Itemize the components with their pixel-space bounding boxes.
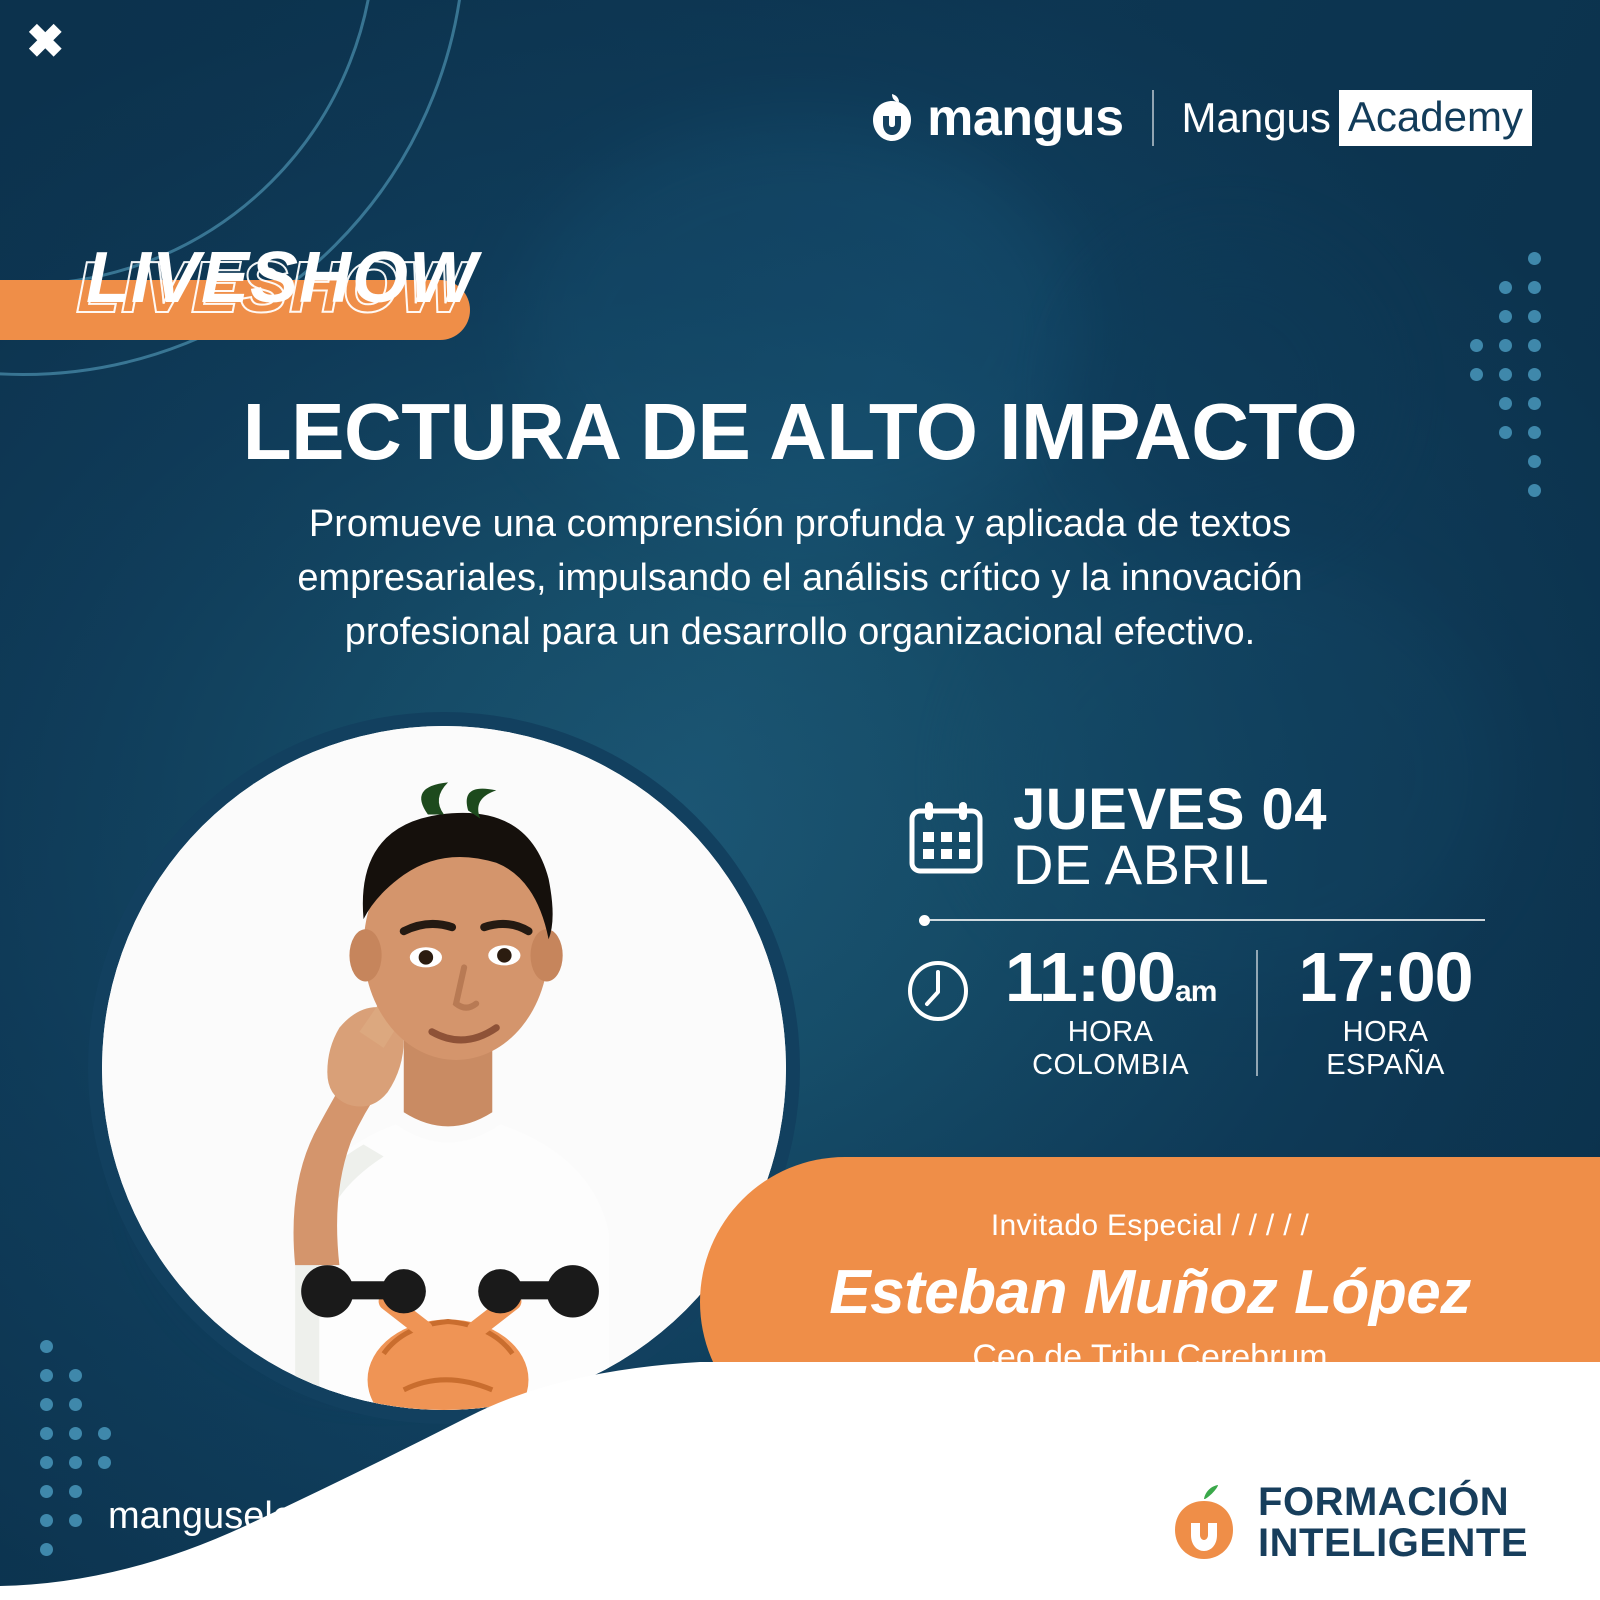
decor-dot — [1528, 484, 1541, 497]
liveshow-badge: LIVESHOW LIVESHOW — [0, 228, 480, 340]
time-suffix: am — [1175, 975, 1216, 1008]
avatar — [102, 726, 786, 1410]
decor-dot — [1528, 252, 1541, 265]
calendar-icon — [905, 796, 987, 878]
decor-dot — [1528, 455, 1541, 468]
decor-dot — [1499, 281, 1512, 294]
decor-dot — [1528, 339, 1541, 352]
decor-dot — [1499, 310, 1512, 323]
event-date-row: JUEVES 04 DE ABRIL — [905, 782, 1485, 893]
decor-dot — [1528, 426, 1541, 439]
time-digits: 11:00 — [1005, 938, 1175, 1016]
speaker-portrait — [102, 726, 786, 1410]
divider-line — [930, 919, 1485, 921]
time-digits: 17:00 — [1299, 938, 1473, 1016]
mango-apple-icon — [869, 92, 915, 144]
decor-dot — [1470, 368, 1483, 381]
time-label: HORA COLOMBIA — [993, 1016, 1228, 1082]
event-time-row: 11:00am HORA COLOMBIA 17:00 HORA ESPAÑA — [905, 942, 1485, 1082]
decor-dot — [1528, 397, 1541, 410]
time-divider — [1256, 950, 1258, 1076]
time-value: 17:00 — [1286, 942, 1485, 1012]
brand-divider — [1152, 90, 1154, 146]
mangus-wordmark: mangus — [927, 88, 1123, 148]
clock-icon — [905, 958, 971, 1024]
event-date-month: DE ABRIL — [1013, 838, 1327, 892]
event-date-day: JUEVES 04 — [1013, 782, 1327, 838]
speaker-photo-ring — [88, 712, 800, 1424]
mangus-academy-logo[interactable]: Mangus Academy — [1182, 90, 1533, 146]
brand-bar: mangus Mangus Academy — [869, 88, 1532, 148]
x-mark-icon: ✖ — [26, 18, 65, 64]
time-label: HORA ESPAÑA — [1286, 1016, 1485, 1082]
decor-dot — [1470, 339, 1483, 352]
decor-dot — [1499, 339, 1512, 352]
event-info-panel: JUEVES 04 DE ABRIL 11:00am HORA COLOMBIA… — [905, 782, 1485, 1082]
academy-highlight: Academy — [1339, 90, 1532, 146]
mangus-logo[interactable]: mangus — [869, 88, 1123, 148]
decor-dot — [1528, 368, 1541, 381]
liveshow-label: LIVESHOW — [86, 242, 478, 314]
divider-dot — [919, 915, 930, 926]
decor-dot — [1499, 397, 1512, 410]
partner-line-1: FORMACIÓN — [1258, 1482, 1528, 1523]
decor-dot — [1528, 281, 1541, 294]
decor-dot — [1499, 426, 1512, 439]
decor-dot — [1528, 310, 1541, 323]
panel-divider — [919, 915, 1485, 926]
event-date-text: JUEVES 04 DE ABRIL — [1013, 782, 1327, 893]
speaker-kicker: Invitado Especial / / / / / — [700, 1209, 1600, 1243]
time-value: 11:00am — [993, 942, 1228, 1012]
formacion-inteligente-logo[interactable]: FORMACIÓN INTELIGENTE — [1168, 1482, 1528, 1564]
formacion-inteligente-text: FORMACIÓN INTELIGENTE — [1258, 1482, 1528, 1564]
hero-description: Promueve una comprensión profunda y apli… — [255, 498, 1345, 660]
time-spain: 17:00 HORA ESPAÑA — [1286, 942, 1485, 1082]
decor-dot — [1499, 368, 1512, 381]
poster-canvas: ✖ ✖ mangus Mangus Academy LIVESHOW LIVES… — [0, 0, 1600, 1600]
page-title: LECTURA DE ALTO IMPACTO — [120, 392, 1480, 472]
website-url[interactable]: manguselearning.com — [108, 1495, 482, 1538]
speaker-name: Esteban Muñoz López — [700, 1257, 1600, 1328]
time-colombia: 11:00am HORA COLOMBIA — [993, 942, 1228, 1082]
partner-line-2: INTELIGENTE — [1258, 1523, 1528, 1564]
hero-text-block: LECTURA DE ALTO IMPACTO Promueve una com… — [120, 392, 1480, 660]
mango-apple-icon — [1168, 1483, 1240, 1563]
academy-prefix: Mangus — [1182, 94, 1339, 142]
